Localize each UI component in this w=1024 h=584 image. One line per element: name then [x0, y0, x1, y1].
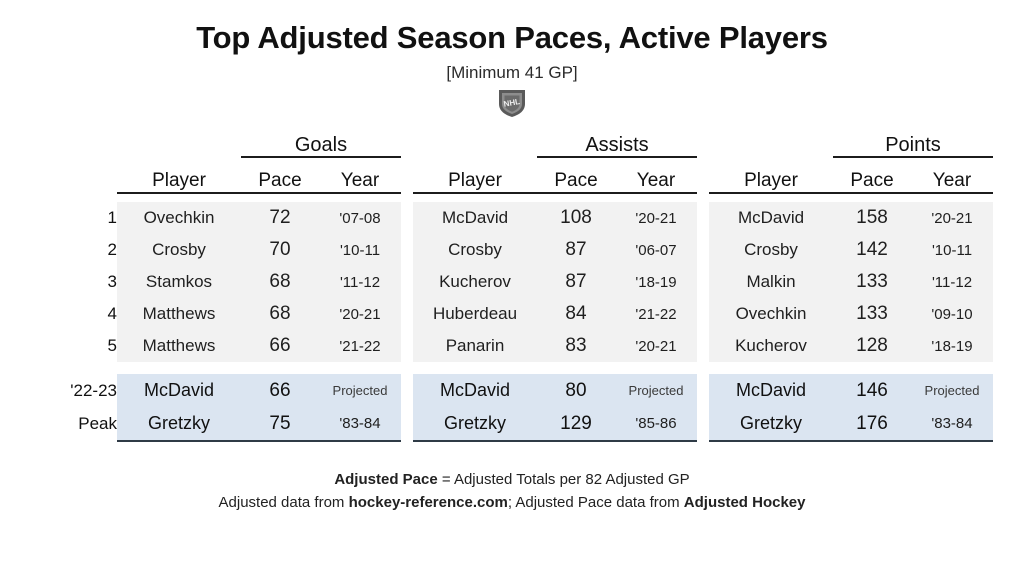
- summary-points-pace: 146: [833, 374, 911, 407]
- footer-source-hockey-reference: hockey-reference.com: [349, 494, 508, 511]
- header-assists-pace: Pace: [537, 157, 615, 193]
- footer-definition: = Adjusted Totals per 82 Adjusted GP: [438, 471, 690, 488]
- assists-year: '20-21: [615, 202, 697, 234]
- header-goals-year: Year: [319, 157, 401, 193]
- assists-pace: 83: [537, 330, 615, 362]
- summary-goals-player: Gretzky: [117, 407, 241, 441]
- summary-gap-2: [697, 374, 709, 407]
- assists-pace: 87: [537, 234, 615, 266]
- group-header-player-spacer-points: [709, 126, 833, 157]
- goals-player: Stamkos: [117, 266, 241, 298]
- group-header-row: Goals Assists Points: [31, 126, 993, 157]
- summary-points-year: Projected: [911, 374, 993, 407]
- assists-pace: 84: [537, 298, 615, 330]
- group-header-assists: Assists: [537, 126, 697, 157]
- header-rule-spacer-cell: [31, 193, 993, 202]
- group-header-goals: Goals: [241, 126, 401, 157]
- rank-label: 5: [31, 330, 117, 362]
- points-player: Kucherov: [709, 330, 833, 362]
- points-year: '18-19: [911, 330, 993, 362]
- header-goals-pace: Pace: [241, 157, 319, 193]
- summary-rank-label: Peak: [31, 407, 117, 441]
- summary-assists-player: McDavid: [413, 374, 537, 407]
- summary-gap-1: [401, 374, 413, 407]
- header-points-player: Player: [709, 157, 833, 193]
- header-assists-year: Year: [615, 157, 697, 193]
- group-header-player-spacer-assists: [413, 126, 537, 157]
- points-player: Ovechkin: [709, 298, 833, 330]
- summary-points-player: Gretzky: [709, 407, 833, 441]
- header-gap-1: [401, 157, 413, 193]
- row-gap-2: [697, 330, 709, 362]
- table-row: 1 Ovechkin 72 '07-08 McDavid 108 '20-21 …: [31, 202, 993, 234]
- assists-player: McDavid: [413, 202, 537, 234]
- assists-year: '18-19: [615, 266, 697, 298]
- goals-pace: 68: [241, 266, 319, 298]
- row-gap-2: [697, 234, 709, 266]
- summary-assists-pace: 129: [537, 407, 615, 441]
- assists-year: '20-21: [615, 330, 697, 362]
- group-header-points: Points: [833, 126, 993, 157]
- goals-player: Matthews: [117, 330, 241, 362]
- summary-points-pace: 176: [833, 407, 911, 441]
- row-gap-1: [401, 298, 413, 330]
- nhl-shield-logo: NHL: [495, 86, 529, 120]
- summary-goals-year: '83-84: [319, 407, 401, 441]
- footer-definition-line: Adjusted Pace = Adjusted Totals per 82 A…: [0, 468, 1024, 491]
- points-year: '11-12: [911, 266, 993, 298]
- points-pace: 133: [833, 298, 911, 330]
- summary-points-year: '83-84: [911, 407, 993, 441]
- row-gap-1: [401, 234, 413, 266]
- points-pace: 128: [833, 330, 911, 362]
- summary-goals-year: Projected: [319, 374, 401, 407]
- footer: Adjusted Pace = Adjusted Totals per 82 A…: [0, 468, 1024, 515]
- group-header-player-spacer-goals: [117, 126, 241, 157]
- table-row: 5 Matthews 66 '21-22 Panarin 83 '20-21 K…: [31, 330, 993, 362]
- header-points-year: Year: [911, 157, 993, 193]
- summary-gap-2: [697, 407, 709, 441]
- points-year: '10-11: [911, 234, 993, 266]
- summary-rank-label: '22-23: [31, 374, 117, 407]
- header-goals-player: Player: [117, 157, 241, 193]
- assists-player: Crosby: [413, 234, 537, 266]
- points-player: Crosby: [709, 234, 833, 266]
- paces-table: Goals Assists Points Player Pace Year Pl…: [31, 126, 993, 442]
- summary-goals-pace: 75: [241, 407, 319, 441]
- group-gap-1: [401, 126, 413, 157]
- group-header-spacer: [31, 126, 117, 157]
- row-gap-1: [401, 202, 413, 234]
- points-pace: 142: [833, 234, 911, 266]
- assists-year: '06-07: [615, 234, 697, 266]
- rank-label: 4: [31, 298, 117, 330]
- table-row: 3 Stamkos 68 '11-12 Kucherov 87 '18-19 M…: [31, 266, 993, 298]
- header-rule-spacer: [31, 193, 993, 202]
- page-subtitle: [Minimum 41 GP]: [0, 55, 1024, 83]
- header-assists-player: Player: [413, 157, 537, 193]
- goals-year: '21-22: [319, 330, 401, 362]
- points-pace: 133: [833, 266, 911, 298]
- row-gap-1: [401, 330, 413, 362]
- group-gap-2: [697, 126, 709, 157]
- assists-year: '21-22: [615, 298, 697, 330]
- assists-pace: 87: [537, 266, 615, 298]
- points-player: Malkin: [709, 266, 833, 298]
- summary-row-projected: '22-23 McDavid 66 Projected McDavid 80 P…: [31, 374, 993, 407]
- footer-source-prefix: Adjusted data from: [219, 494, 349, 511]
- header-gap-2: [697, 157, 709, 193]
- row-gap-1: [401, 266, 413, 298]
- goals-pace: 68: [241, 298, 319, 330]
- points-player: McDavid: [709, 202, 833, 234]
- summary-assists-year: '85-86: [615, 407, 697, 441]
- summary-goals-pace: 66: [241, 374, 319, 407]
- row-gap-2: [697, 298, 709, 330]
- summary-row-peak: Peak Gretzky 75 '83-84 Gretzky 129 '85-8…: [31, 407, 993, 441]
- row-gap-2: [697, 202, 709, 234]
- summary-points-player: McDavid: [709, 374, 833, 407]
- points-pace: 158: [833, 202, 911, 234]
- column-header-row: Player Pace Year Player Pace Year Player…: [31, 157, 993, 193]
- summary-band-gap: [31, 362, 993, 374]
- summary-assists-year: Projected: [615, 374, 697, 407]
- rank-label: 2: [31, 234, 117, 266]
- table-row: 4 Matthews 68 '20-21 Huberdeau 84 '21-22…: [31, 298, 993, 330]
- goals-year: '20-21: [319, 298, 401, 330]
- goals-player: Ovechkin: [117, 202, 241, 234]
- goals-pace: 70: [241, 234, 319, 266]
- goals-year: '10-11: [319, 234, 401, 266]
- summary-gap-1: [401, 407, 413, 441]
- summary-goals-player: McDavid: [117, 374, 241, 407]
- footer-term: Adjusted Pace: [334, 471, 437, 488]
- goals-year: '11-12: [319, 266, 401, 298]
- summary-assists-player: Gretzky: [413, 407, 537, 441]
- assists-pace: 108: [537, 202, 615, 234]
- logo-container: NHL: [0, 84, 1024, 122]
- assists-player: Huberdeau: [413, 298, 537, 330]
- goals-player: Crosby: [117, 234, 241, 266]
- rank-label: 1: [31, 202, 117, 234]
- infographic-canvas: Top Adjusted Season Paces, Active Player…: [0, 0, 1024, 584]
- goals-year: '07-08: [319, 202, 401, 234]
- summary-assists-pace: 80: [537, 374, 615, 407]
- assists-player: Panarin: [413, 330, 537, 362]
- header-points-pace: Pace: [833, 157, 911, 193]
- footer-source-adjusted-hockey: Adjusted Hockey: [684, 494, 806, 511]
- goals-pace: 66: [241, 330, 319, 362]
- rank-header-blank: [31, 157, 117, 193]
- goals-pace: 72: [241, 202, 319, 234]
- points-year: '09-10: [911, 298, 993, 330]
- assists-player: Kucherov: [413, 266, 537, 298]
- rank-label: 3: [31, 266, 117, 298]
- summary-band-gap-cell: [31, 362, 993, 374]
- page-title: Top Adjusted Season Paces, Active Player…: [0, 0, 1024, 55]
- table-row: 2 Crosby 70 '10-11 Crosby 87 '06-07 Cros…: [31, 234, 993, 266]
- row-gap-2: [697, 266, 709, 298]
- footer-source-line: Adjusted data from hockey-reference.com;…: [0, 491, 1024, 514]
- points-year: '20-21: [911, 202, 993, 234]
- footer-source-middle: ; Adjusted Pace data from: [508, 494, 684, 511]
- goals-player: Matthews: [117, 298, 241, 330]
